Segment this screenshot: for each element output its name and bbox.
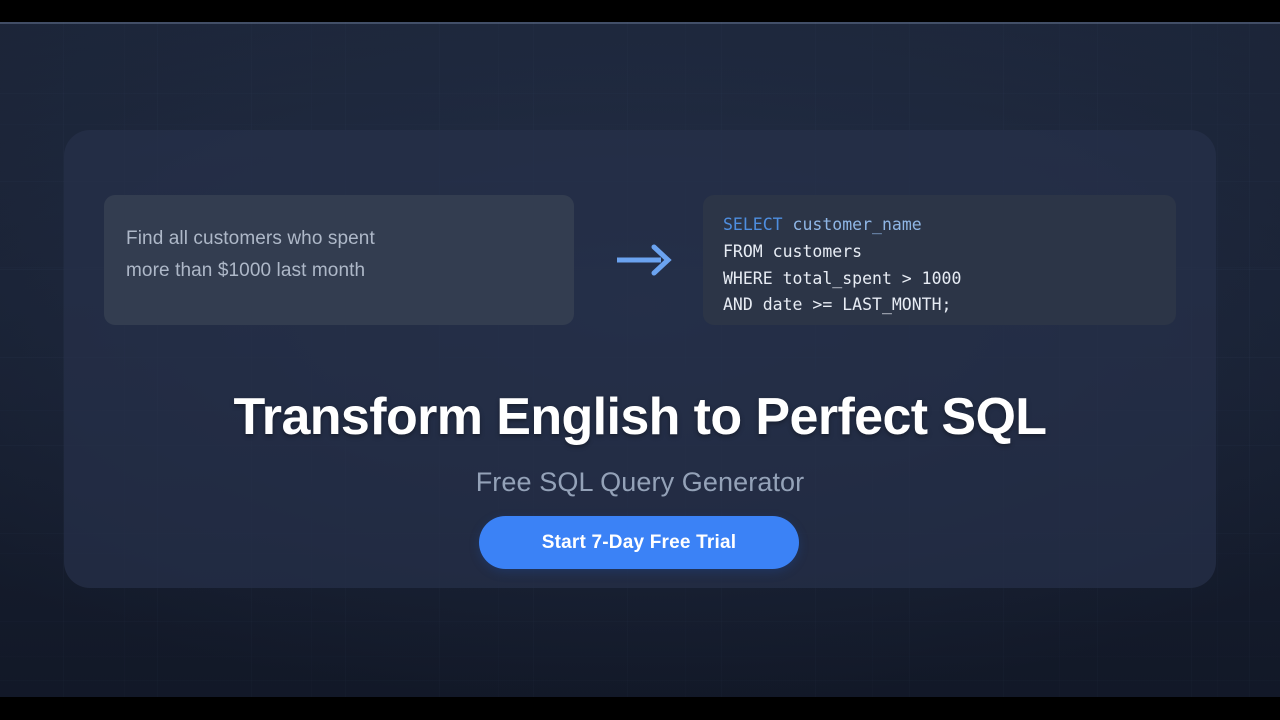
letterbox-bar-top <box>0 0 1280 22</box>
english-line-1: Find all customers who spent <box>126 223 574 255</box>
letterbox-bar-bottom <box>0 697 1280 720</box>
hero-card: Find all customers who spent more than $… <box>64 130 1216 588</box>
sql-line-1: SELECT customer_name <box>723 212 1176 239</box>
english-input-panel[interactable]: Find all customers who spent more than $… <box>104 195 574 325</box>
sql-keyword-select: SELECT <box>723 215 783 234</box>
sql-line-4: AND date >= LAST_MONTH; <box>723 292 1176 319</box>
start-free-trial-button[interactable]: Start 7-Day Free Trial <box>479 516 799 569</box>
top-hairline-divider <box>0 22 1280 24</box>
sql-line-3: WHERE total_spent > 1000 <box>723 266 1176 293</box>
arrow-right-icon <box>615 237 675 283</box>
video-frame: Find all customers who spent more than $… <box>0 0 1280 720</box>
page-title: Transform English to Perfect SQL <box>64 388 1216 446</box>
sql-output-panel[interactable]: SELECT customer_name FROM customers WHER… <box>703 195 1176 325</box>
page-subtitle: Free SQL Query Generator <box>64 467 1216 498</box>
sql-column-customer-name: customer_name <box>783 215 922 234</box>
sql-line-2: FROM customers <box>723 239 1176 266</box>
slide-stage: Find all customers who spent more than $… <box>0 22 1280 697</box>
translation-demo-row: Find all customers who spent more than $… <box>104 195 1176 325</box>
english-line-2: more than $1000 last month <box>126 255 574 287</box>
